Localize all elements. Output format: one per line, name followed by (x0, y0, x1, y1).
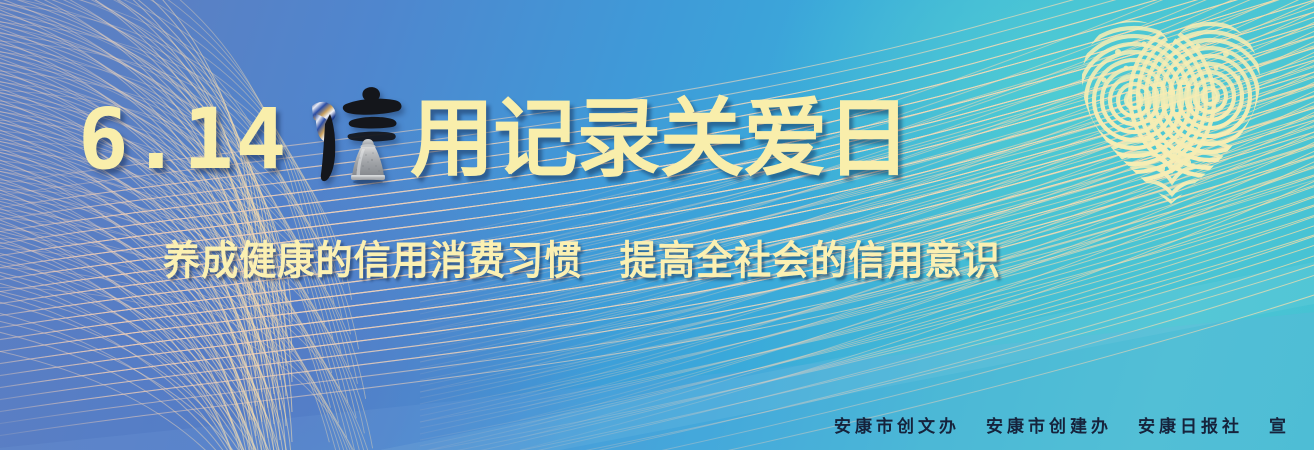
credits-line: 安康市创文办 安康市创建办 安康日报社 宣 (834, 412, 1288, 437)
ink-brush-xin-icon (306, 84, 412, 190)
subtitle-phrase-1: 养成健康的信用消费习惯 (163, 228, 582, 286)
blue-glow-decoration (0, 0, 740, 450)
headline-main-text: 用记录关爱日 (410, 96, 910, 182)
date-text: 6.14 (78, 97, 288, 181)
credit-care-day-banner: 6.14 (0, 0, 1314, 450)
wave-lines-decoration (0, 0, 1314, 450)
subtitle-phrase-2: 提高全社会的信用意识 (620, 228, 1001, 286)
cyan-glow-decoration (654, 0, 1314, 400)
subtitle: 养成健康的信用消费习惯 提高全社会的信用意识 (163, 228, 1001, 286)
headline: 6.14 (78, 88, 920, 190)
credit-item-2: 安康市创建办 (986, 412, 1112, 437)
credit-item-3: 安康日报社 (1138, 412, 1243, 437)
credit-item-1: 安康市创文办 (834, 412, 960, 437)
heart-fingerprint-icon (1078, 8, 1264, 206)
credit-item-4: 宣 (1269, 412, 1288, 437)
